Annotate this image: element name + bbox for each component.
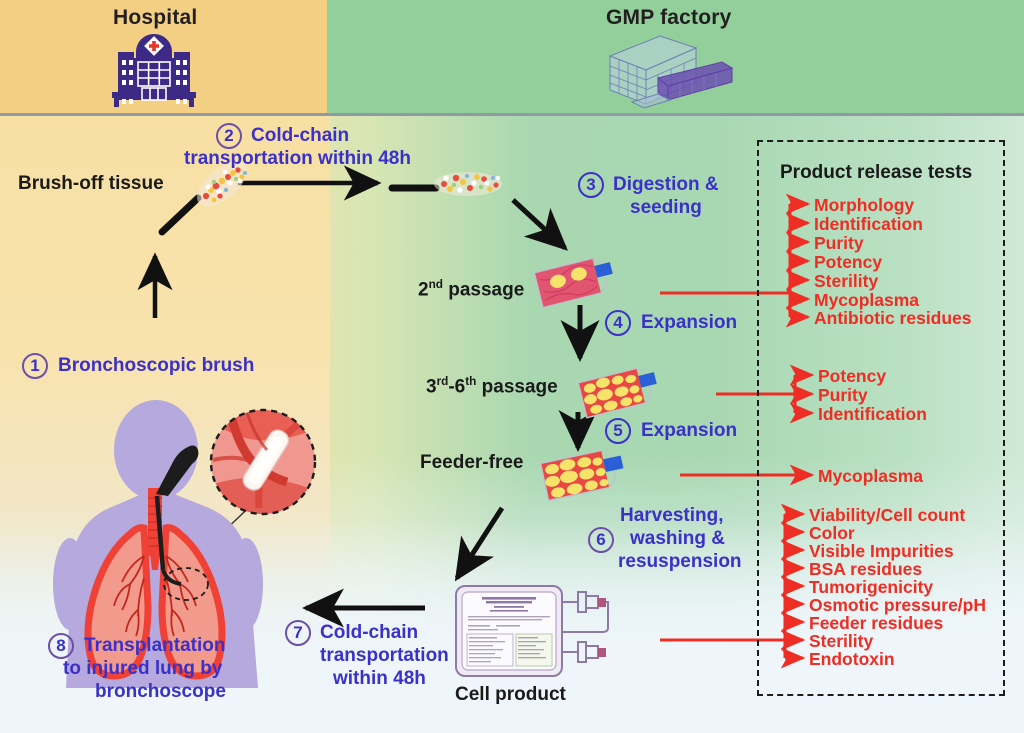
passage-3rd-number: 3 — [426, 376, 437, 397]
bronchoscopic-brush-sample-icon — [150, 160, 260, 240]
release-test-item: Purity — [818, 385, 868, 405]
step-4-label: Expansion — [641, 312, 737, 334]
release-test-item: Identification — [818, 404, 927, 424]
release-test-item: Sterility — [814, 271, 878, 291]
transported-tissue-icon — [388, 164, 508, 206]
step-7-label-line3: within 48h — [333, 668, 426, 690]
step-1-label: Bronchoscopic brush — [58, 355, 254, 377]
step-8-label-line3: bronchoscope — [95, 681, 226, 703]
passage-3rd-suffix: rd — [437, 375, 449, 388]
cell-product-bag-icon — [452, 580, 612, 684]
step-3-label-line2: seeding — [630, 197, 702, 219]
brush-off-tissue-label: Brush-off tissue — [18, 173, 164, 195]
culture-flask-feeder-free-icon — [532, 442, 642, 508]
release-test-item: Potency — [818, 366, 886, 386]
cell-product-label: Cell product — [455, 684, 566, 706]
step-3-label-line1: Digestion & — [613, 174, 719, 196]
figure-canvas: Hospital GMP factory — [0, 0, 1024, 733]
release-test-item: Potency — [814, 252, 882, 272]
step-1-marker: 1 — [22, 353, 48, 379]
passage-3rd-6th-label: 3rd-6th passage — [426, 375, 558, 398]
step-4-marker: 4 — [605, 310, 631, 336]
step-5-label: Expansion — [641, 420, 737, 442]
passage-2nd-word: passage — [443, 279, 524, 300]
passage-2nd-suffix: nd — [429, 278, 443, 291]
culture-flask-2nd-passage-icon — [528, 252, 632, 314]
step-2-label-line1: Cold-chain — [251, 125, 349, 147]
step-2-marker: 2 — [216, 123, 242, 149]
step-5-marker: 5 — [605, 418, 631, 444]
product-release-tests-title: Product release tests — [780, 162, 972, 184]
release-test-item: Purity — [814, 233, 864, 253]
step-7-label-line2: transportation — [320, 645, 449, 667]
step-3-marker: 3 — [578, 172, 604, 198]
step-8-marker: 8 — [48, 633, 74, 659]
airway-magnifier-inset — [205, 404, 321, 520]
release-test-item: Identification — [814, 214, 923, 234]
passage-2nd-label: 2nd passage — [418, 278, 524, 301]
step-7-marker: 7 — [285, 620, 311, 646]
feeder-free-label: Feeder-free — [420, 452, 524, 474]
release-test-item: Mycoplasma — [818, 466, 923, 486]
step-8-label-line1: Transplantation — [84, 635, 225, 657]
release-test-item: Endotoxin — [809, 649, 895, 669]
step-6-label-line2: washing & — [630, 528, 725, 550]
passage-3rd-6th-word: passage — [476, 376, 557, 397]
passage-6th-number: -6 — [448, 376, 465, 397]
passage-6th-suffix: th — [465, 375, 476, 388]
passage-2nd-number: 2 — [418, 279, 429, 300]
culture-flask-3rd-6th-passage-icon — [572, 362, 676, 424]
release-test-item: Antibiotic residues — [814, 308, 972, 328]
step-6-marker: 6 — [588, 527, 614, 553]
step-6-label-line3: resuspension — [618, 551, 742, 573]
step-8-label-line2: to injured lung by — [63, 658, 222, 680]
step-7-label-line1: Cold-chain — [320, 622, 418, 644]
release-test-item: Morphology — [814, 195, 914, 215]
step-2-label-line2: transportation within 48h — [184, 148, 411, 170]
step-6-label-line1: Harvesting, — [620, 505, 770, 527]
